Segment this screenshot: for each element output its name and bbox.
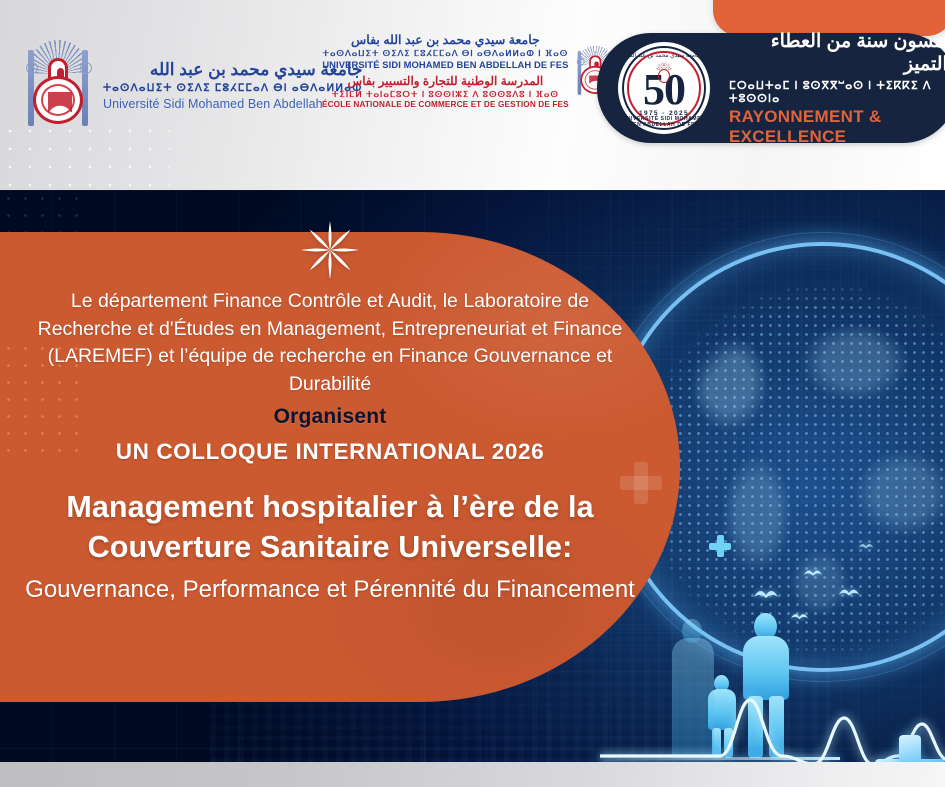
- page-title: Management hospitalier à l’ère de la Cou…: [0, 487, 660, 568]
- conference-poster: Le département Finance Contrôle et Audit…: [0, 0, 945, 787]
- eight-point-star-icon: [300, 220, 360, 280]
- poster-content: Le département Finance Contrôle et Audit…: [0, 190, 660, 605]
- logo-encg-french-school: ÉCOLE NATIONALE DE COMMERCE ET DE GESTIO…: [322, 100, 569, 111]
- intro-paragraph: Le département Finance Contrôle et Audit…: [0, 288, 660, 399]
- fifty-tifinagh: ⵎⵔⴰⵡⵜⴰⵎ ⵏ ⵓⵙⴳⴳⵯⴰⵙ ⵏ ⵜⵉⴽⴽⵉ ⴷ ⵜⵓⵙⵙⵏⴰ: [729, 79, 945, 105]
- logo-fifty-anniversary[interactable]: جامعة سيدي محمد بن عبد الله 50 1975 - 20…: [597, 33, 945, 143]
- colloque-line: UN COLLOQUE INTERNATIONAL 2026: [0, 439, 660, 465]
- footer-band: [0, 762, 945, 787]
- logo-encg-french-university: UNIVERSITÉ SIDI MOHAMED BEN ABDELLAH DE …: [322, 59, 569, 71]
- logo-encg-arabic-school: المدرسة الوطنية للتجارة والتسيير بفاس: [322, 74, 569, 90]
- fifty-english: RAYONNEMENT & EXCELLENCE: [729, 107, 945, 147]
- logo-encg-arabic-university: جامعة سيدي محمد بن عبد الله بفاس: [322, 32, 569, 48]
- header-band: جامعة سيدي محمد بن عبد الله ⵜⴰⵙⴷⴰⵡⵉⵜ ⵙⵉⴷ…: [0, 0, 945, 190]
- logo-usmba[interactable]: جامعة سيدي محمد بن عبد الله ⵜⴰⵙⴷⴰⵡⵉⵜ ⵙⵉⴷ…: [22, 38, 363, 134]
- logo-encg-tifinagh-university: ⵜⴰⵙⴷⴰⵡⵉⵜ ⵙⵉⴷⵉ ⵎⵓⵃⵎⵎⴰⴷ ⴱⵏ ⴰⴱⴷⴰⵍⵍⴰⵀ ⵏ ⴼⴰⵙ: [322, 48, 569, 59]
- logo-row: جامعة سيدي محمد بن عبد الله ⵜⴰⵙⴷⴰⵡⵉⵜ ⵙⵉⴷ…: [0, 0, 945, 190]
- logo-encg[interactable]: جامعة سيدي محمد بن عبد الله بفاس ⵜⴰⵙⴷⴰⵡⵉ…: [322, 32, 621, 111]
- fifty-arc-bottom: UNIVERSITÉ SIDI MOHAMED BEN ABDELLAH DE …: [618, 116, 710, 128]
- organisent-label: Organisent: [0, 405, 660, 429]
- university-crest-icon: [22, 38, 94, 134]
- logo-encg-tifinagh-school: ⵜⵉⵏⵎⵍ ⵜⴰⵏⴰⵎⵓⵔⵜ ⵏ ⵓⵙⵙⵏⵣⵉ ⴷ ⵓⵙⵙⵓⴷⵓ ⵏ ⴼⴰⵙ: [322, 89, 569, 100]
- fifty-medal-icon: جامعة سيدي محمد بن عبد الله 50 1975 - 20…: [615, 39, 713, 137]
- fifty-arabic: خمسون سنة من العطاء والتميز: [729, 30, 945, 76]
- flying-birds-icon: [858, 542, 874, 551]
- page-subtitle: Gouvernance, Performance et Pérennité du…: [0, 574, 660, 605]
- medical-cross-icon: [875, 735, 945, 762]
- medical-cross-small-icon: [709, 535, 731, 557]
- fifty-arc-top: جامعة سيدي محمد بن عبد الله: [618, 53, 710, 59]
